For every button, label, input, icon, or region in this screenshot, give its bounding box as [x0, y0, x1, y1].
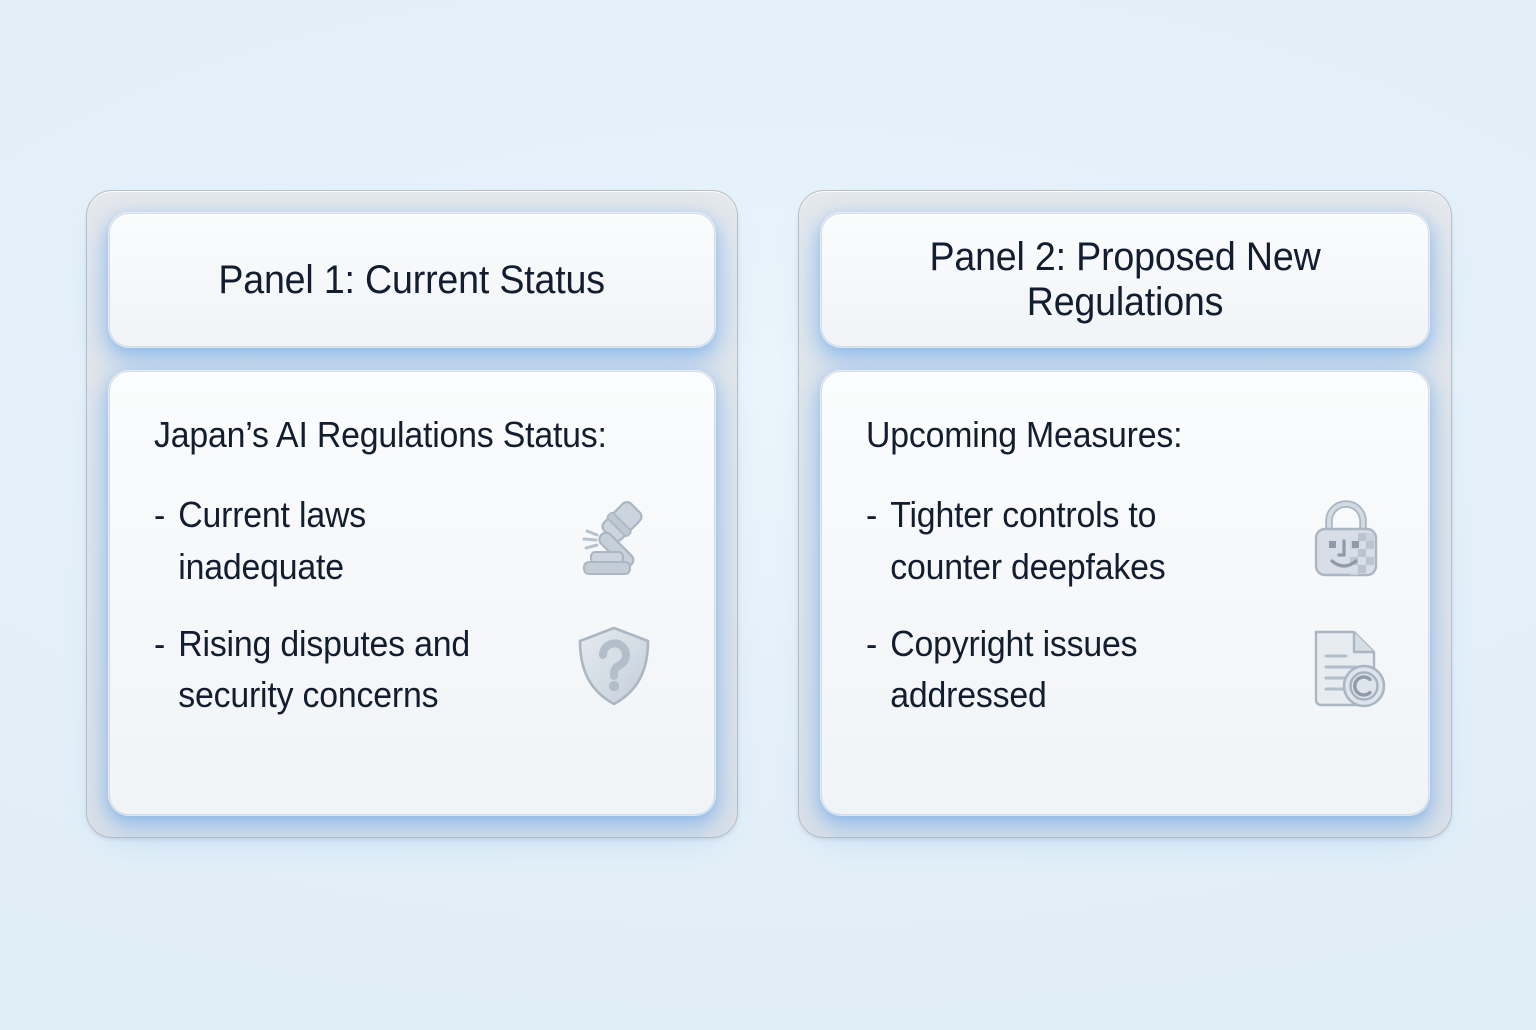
bullet-label: Tighter controls to counter deepfakes: [890, 489, 1261, 591]
list-item: - Rising disputes and security concerns: [154, 618, 680, 720]
bullet-label: Copyright issues addressed: [890, 618, 1261, 720]
panel-2-bullet-list: - Tighter controls to counter deepfakes: [866, 489, 1394, 719]
panel-1-bullet-2-text: - Rising disputes and security concerns: [154, 618, 530, 720]
slide-canvas: Panel 1: Current Status Japan’s AI Regul…: [0, 0, 1536, 1030]
panel-1-body-card: Japan’s AI Regulations Status: - Current…: [109, 371, 715, 815]
panel-2-body-card: Upcoming Measures: - Tighter controls to…: [821, 371, 1429, 815]
panel-1-frame: Panel 1: Current Status Japan’s AI Regul…: [86, 190, 738, 838]
panel-1-bullet-1-text: - Current laws inadequate: [154, 489, 530, 591]
panel-1-title-card: Panel 1: Current Status: [109, 213, 715, 347]
list-item: - Tighter controls to counter deepfakes: [866, 489, 1394, 591]
list-item: - Current laws inadequate: [154, 489, 680, 591]
document-copyright-icon: [1300, 620, 1392, 712]
bullet-dash: -: [866, 618, 877, 720]
lock-face-icon: [1300, 491, 1392, 583]
panel-2-heading: Upcoming Measures:: [866, 414, 1362, 455]
panel-2-frame: Panel 2: Proposed New Regulations Upcomi…: [798, 190, 1452, 838]
shield-question-icon: [568, 620, 660, 712]
panel-1-title: Panel 1: Current Status: [194, 258, 629, 303]
list-item: - Copyright issues addressed: [866, 618, 1394, 720]
panel-2-title-card: Panel 2: Proposed New Regulations: [821, 213, 1429, 347]
panel-1-bullet-list: - Current laws inadequate: [154, 489, 680, 719]
panel-1-heading: Japan’s AI Regulations Status:: [154, 414, 648, 455]
panel-2-bullet-1-text: - Tighter controls to counter deepfakes: [866, 489, 1261, 591]
bullet-dash: -: [866, 489, 877, 591]
bullet-label: Current laws inadequate: [178, 489, 530, 591]
bullet-dash: -: [154, 618, 165, 720]
panel-2-bullet-2-text: - Copyright issues addressed: [866, 618, 1261, 720]
panel-2-title: Panel 2: Proposed New Regulations: [840, 235, 1410, 325]
bullet-dash: -: [154, 489, 165, 591]
gavel-icon: [568, 491, 660, 583]
bullet-label: Rising disputes and security concerns: [178, 618, 530, 720]
